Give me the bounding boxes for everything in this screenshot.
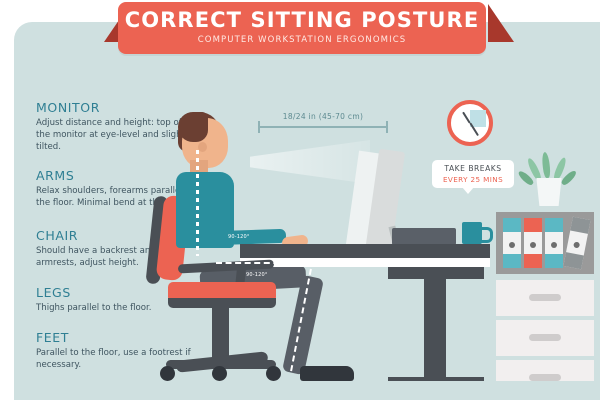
title-ribbon: CORRECT SITTING POSTURE COMPUTER WORKSTA… xyxy=(118,2,486,54)
thigh-guide-line xyxy=(216,262,308,264)
binder-teal-2 xyxy=(545,218,563,268)
binder-red xyxy=(524,218,542,268)
drawer-handle xyxy=(529,334,561,341)
binder-teal-1 xyxy=(503,218,521,268)
elbow-angle-label: 90-120° xyxy=(228,234,250,240)
desk-tray xyxy=(392,228,456,245)
person-hair-back xyxy=(178,112,208,142)
floor xyxy=(14,381,600,400)
drawer-2[interactable] xyxy=(496,320,594,356)
measurement-line xyxy=(258,126,388,128)
chair-caster xyxy=(160,366,175,381)
chair-caster xyxy=(266,366,281,381)
tip-arms-heading: ARMS xyxy=(36,168,196,183)
measurement-label: 18/24 in (45-70 cm) xyxy=(258,112,388,121)
chair-caster xyxy=(212,366,227,381)
mug-icon xyxy=(462,222,482,244)
desk-leg xyxy=(424,267,446,377)
drawer-handle xyxy=(529,374,561,381)
person-ear xyxy=(198,142,207,152)
tip-monitor-body: Adjust distance and height: top of the m… xyxy=(36,118,196,154)
page-subtitle: COMPUTER WORKSTATION ERGONOMICS xyxy=(118,35,486,45)
binder-grey xyxy=(563,217,590,270)
tip-feet-heading: FEET xyxy=(36,330,196,345)
person-shoe xyxy=(300,366,354,381)
tip-monitor-heading: MONITOR xyxy=(36,100,196,115)
binder-shelf xyxy=(496,212,594,274)
take-breaks-badge: TAKE BREAKS EVERY 25 MINS xyxy=(432,160,514,188)
mug-handle xyxy=(481,227,493,243)
drawer-handle xyxy=(529,294,561,301)
knee-angle-label: 90-120° xyxy=(246,272,268,278)
infographic-canvas: CORRECT SITTING POSTURE COMPUTER WORKSTA… xyxy=(0,0,600,400)
tip-monitor: MONITOR Adjust distance and height: top … xyxy=(36,100,196,154)
clock-icon xyxy=(447,100,493,146)
badge-line-2: EVERY 25 MINS xyxy=(432,175,514,184)
person-arm xyxy=(214,229,286,246)
page-title: CORRECT SITTING POSTURE xyxy=(118,8,486,32)
drawer-1[interactable] xyxy=(496,280,594,316)
chair-cylinder xyxy=(212,306,229,362)
spine-guide-line xyxy=(196,150,199,256)
badge-line-1: TAKE BREAKS xyxy=(432,164,514,173)
